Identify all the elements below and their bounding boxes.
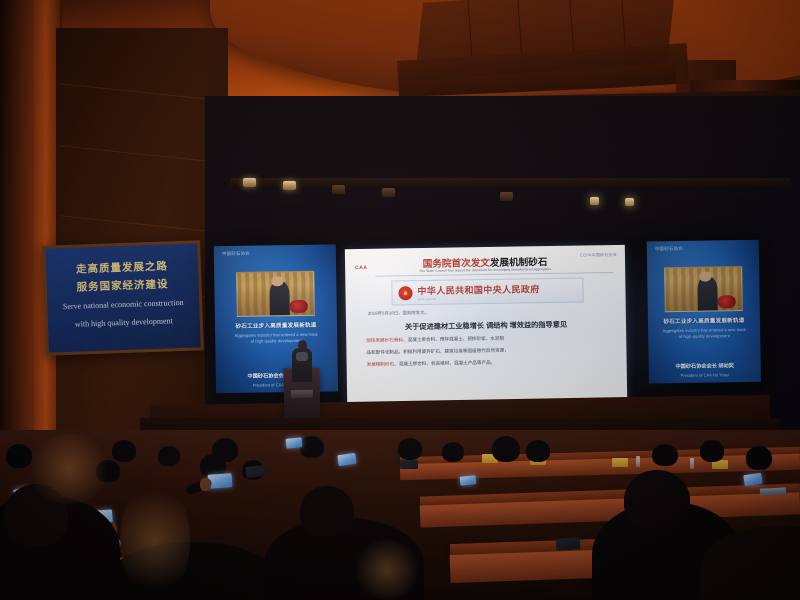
presentation-slide: CAA CCPA中国砂石协会 国务院首次发文发展机制砂石 The State C… — [345, 245, 627, 404]
panel-subtitle-line1: Aggregates industry has entered a new tr… — [663, 327, 746, 333]
lighting-truss — [230, 178, 790, 188]
foreground-audience-head — [300, 486, 354, 536]
phone-screen — [337, 453, 356, 466]
document-body-rest1: 、混凝土掺合料、预拌混凝土、预拌砂浆、水泥制 — [403, 336, 504, 343]
wall-banner-line4: with high quality development — [48, 315, 200, 329]
stage-light — [590, 197, 599, 205]
stage-light — [332, 185, 345, 194]
panel-title-right: 砂石工业步入高质量发展新轨道 — [652, 316, 756, 326]
photo-speaker-head — [271, 277, 283, 287]
wall-banner-line2: 服务国家经济建设 — [46, 275, 198, 295]
name-placard — [612, 458, 628, 467]
document-body-line3: 发展精制砂石、混凝土掺合料、机夹墙材、混凝土产品等产品。 — [367, 357, 613, 368]
wall-banner-line1: 走高质量发展之路 — [46, 257, 198, 277]
document-body-rest3: 、混凝土掺合料、机夹墙材、混凝土产品等产品。 — [394, 360, 495, 367]
government-url: www.gov.cn — [418, 295, 540, 301]
document-date-line: 2016年5月18日，国务院发文。 — [368, 310, 429, 317]
lens-flare — [24, 434, 114, 504]
audience-area — [0, 430, 800, 600]
document-heading: 关于促进建材工业稳增长 调结构 增效益的指导意见 — [346, 319, 626, 333]
photo-speaker-head — [699, 272, 711, 282]
stage-light — [382, 188, 395, 197]
document-body-line2: 品和部件化制品，积极利用废弃矿石、建筑垃圾等固废替代自然资源， — [366, 345, 612, 356]
phone-screen — [208, 473, 233, 489]
document-highlight-2: 发展精制砂石 — [367, 361, 395, 366]
phone-device — [400, 460, 418, 469]
stage-light — [243, 178, 256, 187]
phone-device — [246, 465, 267, 478]
stage-light — [283, 181, 296, 190]
photo-speaker-body — [697, 277, 717, 311]
speaker-highlight — [296, 352, 308, 361]
wall-seam — [60, 215, 227, 234]
panel-subtitle-left: Aggregates industry has entered a new tr… — [221, 331, 331, 346]
document-highlight-1: 加快发展砂石骨料 — [366, 337, 403, 343]
panel-subtitle-line2: of high-quality development — [679, 334, 730, 340]
government-name-cn: 中华人民共和国中央人民政府 — [417, 282, 539, 297]
auditorium-scene: 走高质量发展之路 服务国家经济建设 Serve national economi… — [0, 0, 800, 600]
phone-screen — [286, 437, 303, 449]
laptop — [760, 487, 786, 495]
photo-speaker-body — [269, 282, 289, 316]
speaker-photo-right — [664, 266, 743, 312]
water-bottle — [636, 456, 640, 467]
audience-hand — [200, 478, 211, 491]
wall-banner-line3: Serve national economic construction — [47, 297, 199, 311]
speaker-head — [298, 340, 307, 350]
panel-logo-left: 中国砂石协会 — [222, 251, 250, 257]
audience-head — [700, 440, 724, 462]
phone-device — [556, 537, 581, 551]
panel-subtitle-line2: of high-quality development — [251, 338, 302, 344]
photo-flowers — [717, 295, 735, 309]
wall-seam — [60, 145, 227, 164]
audience-head — [398, 438, 422, 460]
foreground-audience-head — [624, 470, 690, 530]
speaker-photo-left — [236, 271, 315, 317]
government-banner: 中华人民共和国中央人民政府 www.gov.cn — [391, 277, 583, 305]
document-body-line1: 加快发展砂石骨料、混凝土掺合料、预拌混凝土、预拌砂浆、水泥制 — [366, 333, 612, 344]
left-wall-panel — [56, 28, 228, 448]
wall-banner: 走高质量发展之路 服务国家经济建设 Serve national economi… — [42, 240, 204, 355]
audience-head — [492, 436, 520, 462]
audience-head — [300, 436, 324, 458]
audience-head — [158, 446, 180, 466]
lens-flare — [352, 540, 422, 600]
phone-screen — [460, 475, 477, 486]
panel-subtitle-line1: Aggregates industry has entered a new tr… — [235, 332, 318, 338]
lens-flare — [120, 480, 190, 600]
audience-head — [746, 446, 772, 470]
stage-light — [625, 198, 634, 206]
water-bottle — [690, 458, 694, 469]
government-banner-text: 中华人民共和国中央人民政府 www.gov.cn — [417, 282, 539, 301]
panel-logo-right: 中国砂石协会 — [655, 246, 683, 252]
wall-seam — [60, 83, 227, 102]
audience-head — [442, 442, 464, 462]
audience-head — [112, 440, 136, 462]
audience-head — [526, 440, 550, 462]
led-panel-right: 中国砂石协会 砂石工业步入高质量发展新轨道 Aggregates industr… — [647, 240, 761, 384]
podium-plate — [291, 390, 313, 398]
panel-subtitle-right: Aggregates industry has entered a new tr… — [654, 327, 754, 341]
national-emblem-icon — [398, 286, 412, 300]
photo-flowers — [289, 299, 307, 313]
stage-light — [500, 192, 513, 201]
audience-head — [652, 444, 678, 466]
